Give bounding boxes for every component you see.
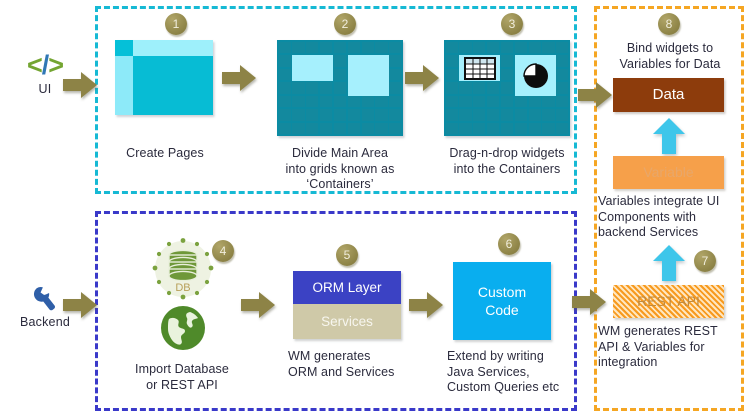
step-badge-3: 3	[501, 13, 523, 35]
table-widget-icon	[464, 57, 496, 85]
step-caption-8: Variables integrate UI Components with b…	[598, 194, 744, 241]
step-caption-7: WM generates REST API & Variables for in…	[598, 324, 744, 371]
page-mock-sidebar	[115, 56, 133, 115]
custom-code-block: Custom Code	[453, 262, 551, 340]
step-caption-4: Import Database or REST API	[112, 362, 252, 393]
step-caption-5: WM generates ORM and Services	[288, 349, 418, 380]
orm-services-stack: ORM Layer Services	[293, 271, 401, 339]
step-badge-6: 6	[498, 233, 520, 255]
arrow-step1-to-step2	[222, 63, 256, 93]
page-mock-corner	[115, 40, 133, 56]
step-badge-1: 1	[165, 13, 187, 35]
page-mock-main	[133, 56, 213, 115]
pie-chart-widget-icon	[522, 62, 550, 95]
container-region-b	[348, 55, 389, 96]
container-region-a	[292, 55, 333, 81]
services-layer-block: Services	[293, 304, 401, 339]
step-title-8: Bind widgets to Variables for Data	[600, 41, 740, 72]
arrow-backend-to-step4	[63, 290, 97, 320]
grid-with-widgets-mock	[444, 40, 570, 136]
arrow-step5-to-step6	[409, 290, 443, 320]
orm-layer-block: ORM Layer	[293, 271, 401, 304]
page-layout-mock	[115, 40, 213, 115]
variable-block: Variable	[613, 156, 724, 189]
svg-text:DB: DB	[175, 282, 190, 294]
arrow-ui-to-step1	[63, 70, 97, 100]
data-block: Data	[613, 78, 724, 112]
arrow-step3-to-data	[578, 80, 612, 110]
step-caption-6: Extend by writing Java Services, Custom …	[447, 349, 587, 396]
step-caption-1: Create Pages	[110, 146, 220, 162]
page-mock-header	[133, 40, 213, 56]
rest-api-block: REST API	[613, 285, 724, 318]
step-badge-7: 7	[694, 250, 716, 272]
grid-mock	[277, 40, 403, 136]
arrow-step2-to-step3	[405, 63, 439, 93]
database-icon: DB	[152, 238, 214, 300]
step-badge-5: 5	[336, 244, 358, 266]
step-badge-4: 4	[212, 240, 234, 262]
arrow-variable-up-to-data	[652, 118, 686, 154]
step-caption-3: Drag-n-drop widgets into the Containers	[437, 146, 577, 177]
globe-icon	[160, 305, 206, 351]
arrow-step4-to-step5	[241, 290, 275, 320]
step-badge-8: 8	[658, 13, 680, 35]
custom-code-label: Custom Code	[478, 283, 526, 319]
step-caption-2: Divide Main Area into grids known as ‘Co…	[272, 146, 408, 193]
arrow-step6-to-restapi	[572, 287, 606, 317]
step-badge-2: 2	[334, 13, 356, 35]
arrow-restapi-up-to-variable	[652, 245, 686, 281]
